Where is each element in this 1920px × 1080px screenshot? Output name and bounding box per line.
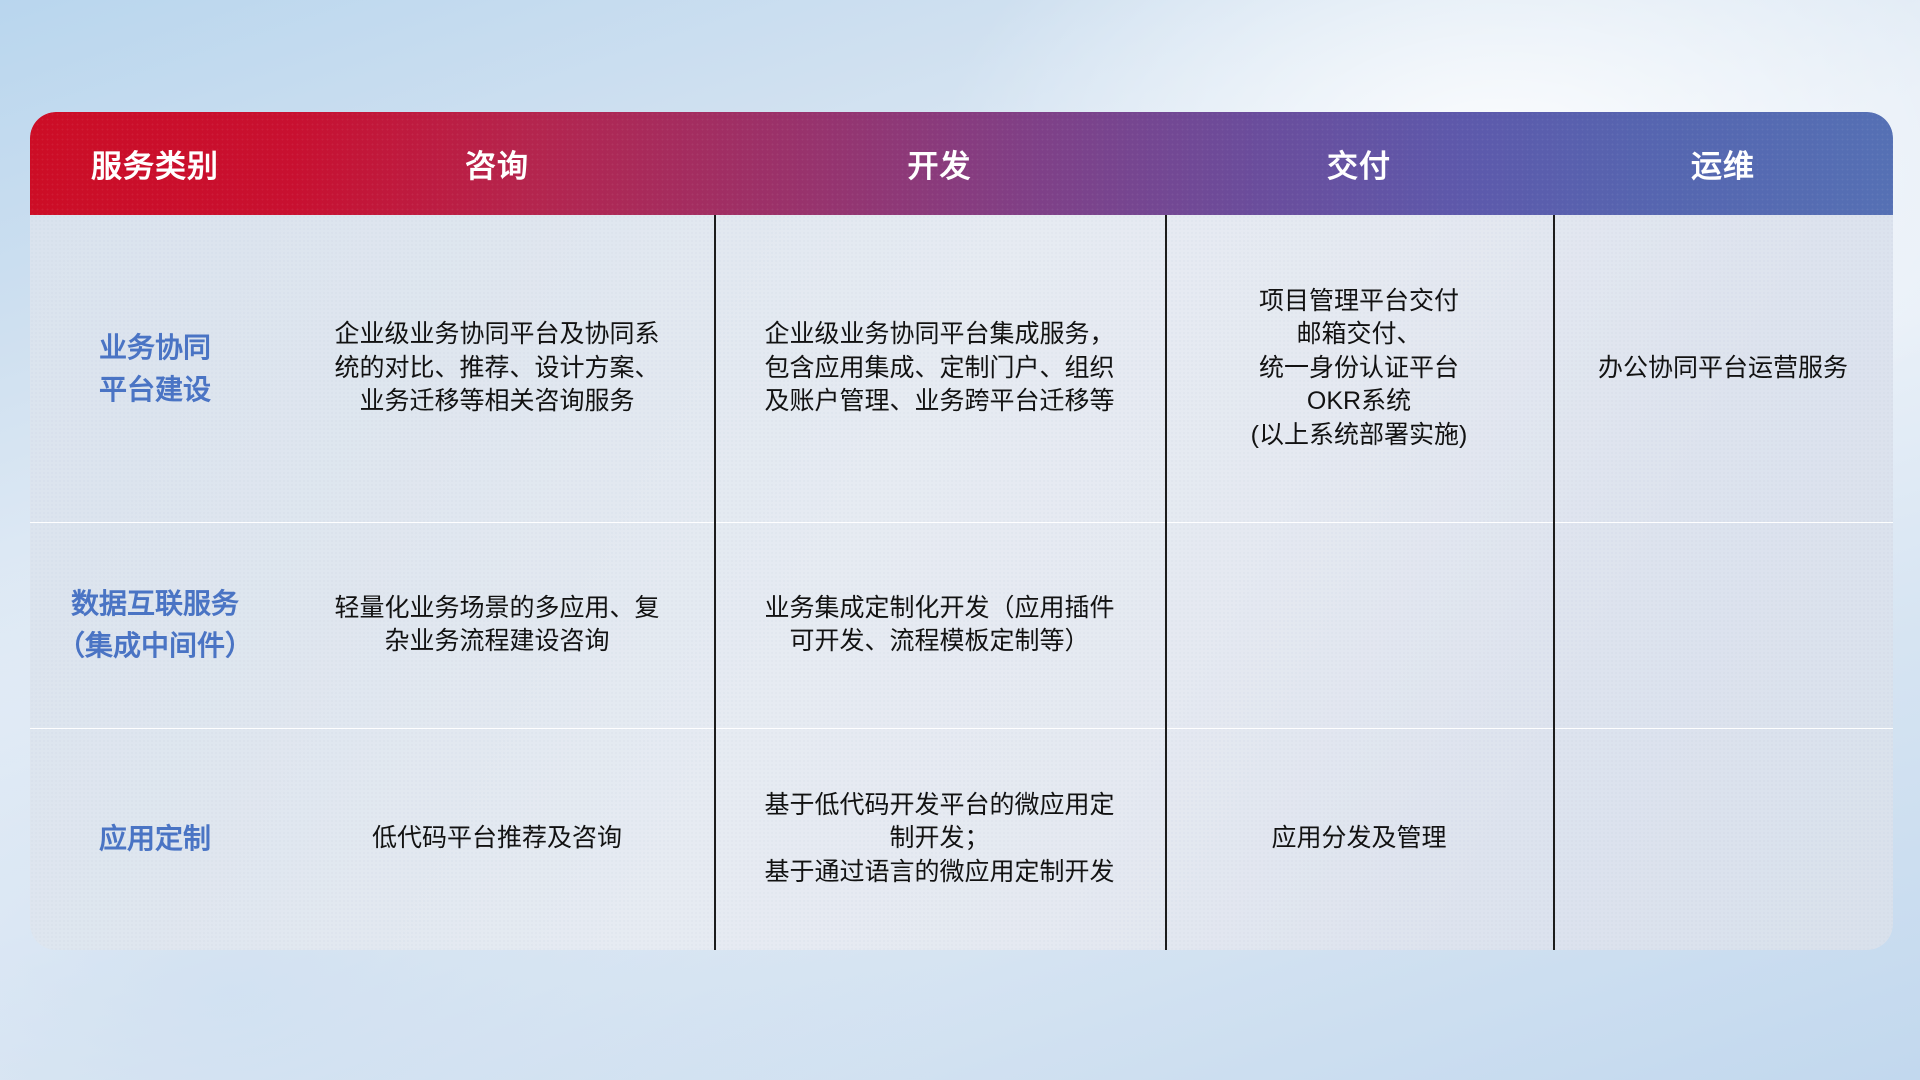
cell-consulting: 轻量化业务场景的多应用、复 杂业务流程建设咨询 — [280, 592, 714, 659]
cell-delivery: 项目管理平台交付 邮箱交付、 统一身份认证平台 OKR系统 (以上系统部署实施) — [1165, 285, 1553, 453]
cell-consulting: 低代码平台推荐及咨询 — [280, 822, 714, 856]
column-header-development: 开发 — [714, 141, 1165, 186]
table-row: 数据互联服务 （集成中间件） 轻量化业务场景的多应用、复 杂业务流程建设咨询 业… — [30, 522, 1893, 728]
column-header-delivery: 交付 — [1165, 141, 1553, 186]
column-header-consulting: 咨询 — [280, 141, 714, 186]
column-divider — [1553, 215, 1555, 950]
column-header-category: 服务类别 — [30, 141, 280, 186]
cell-operations: 办公协同平台运营服务 — [1553, 352, 1893, 386]
table-header-row: 服务类别 咨询 开发 交付 运维 — [30, 112, 1893, 215]
slide-canvas: 服务类别 咨询 开发 交付 运维 业务协同 平台建设 企业级业务协同平台及协同系… — [0, 0, 1920, 1080]
cell-development: 基于低代码开发平台的微应用定 制开发； 基于通过语言的微应用定制开发 — [714, 789, 1165, 890]
column-header-operations: 运维 — [1553, 141, 1893, 186]
cell-category: 数据互联服务 （集成中间件） — [30, 583, 280, 667]
table-row: 应用定制 低代码平台推荐及咨询 基于低代码开发平台的微应用定 制开发； 基于通过… — [30, 728, 1893, 950]
table-row: 业务协同 平台建设 企业级业务协同平台及协同系 统的对比、推荐、设计方案、 业务… — [30, 215, 1893, 522]
cell-development: 业务集成定制化开发（应用插件 可开发、流程模板定制等） — [714, 592, 1165, 659]
cell-consulting: 企业级业务协同平台及协同系 统的对比、推荐、设计方案、 业务迁移等相关咨询服务 — [280, 318, 714, 419]
cell-development: 企业级业务协同平台集成服务， 包含应用集成、定制门户、组织 及账户管理、业务跨平… — [714, 318, 1165, 419]
cell-category: 业务协同 平台建设 — [30, 327, 280, 411]
column-divider — [714, 215, 716, 950]
services-matrix-table: 服务类别 咨询 开发 交付 运维 业务协同 平台建设 企业级业务协同平台及协同系… — [30, 112, 1893, 950]
column-divider — [1165, 215, 1167, 950]
cell-delivery: 应用分发及管理 — [1165, 822, 1553, 856]
cell-category: 应用定制 — [30, 818, 280, 860]
table-body: 业务协同 平台建设 企业级业务协同平台及协同系 统的对比、推荐、设计方案、 业务… — [30, 215, 1893, 950]
